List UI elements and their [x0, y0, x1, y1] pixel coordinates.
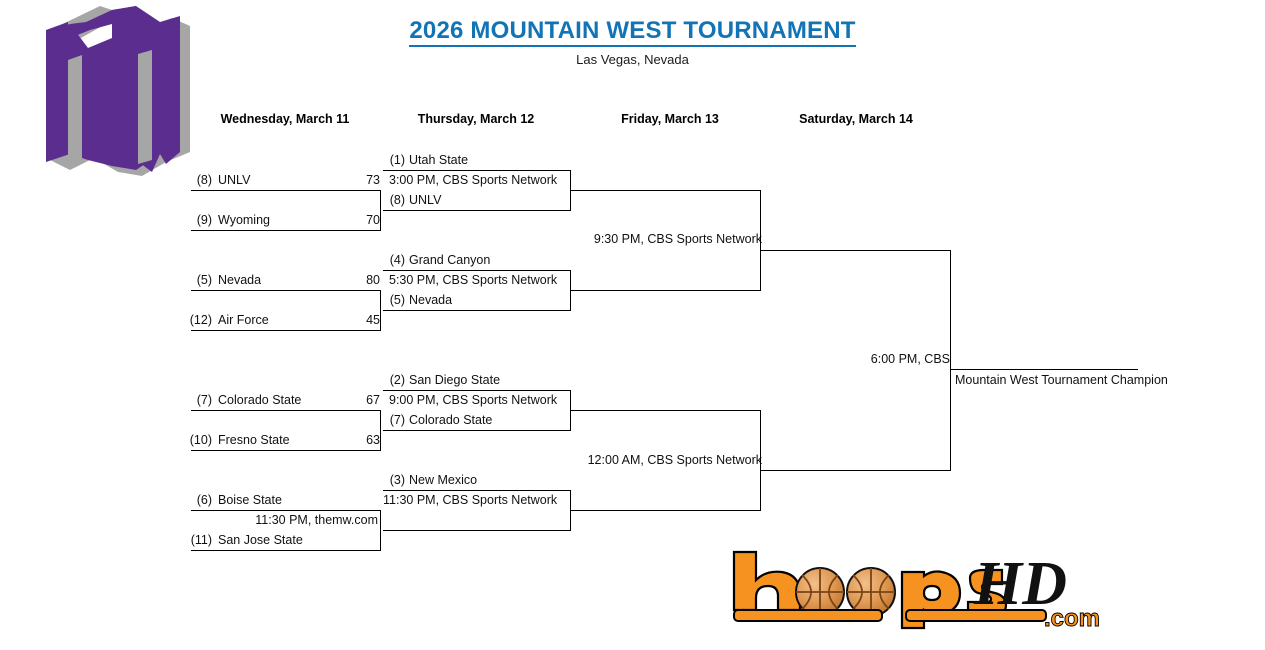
- r1-g4-time: 11:30 PM, themw.com: [180, 513, 378, 527]
- r1-g3-top-team: Colorado State: [218, 393, 301, 407]
- r1-g3-bot-score: 63: [330, 433, 380, 447]
- qf2-time: 5:30 PM, CBS Sports Network: [389, 273, 557, 287]
- basketball-icon-1: [796, 568, 844, 616]
- sf1-bot-line: [570, 290, 760, 291]
- qf2-top-seed: (4): [383, 253, 405, 267]
- final-time: 6:00 PM, CBS: [760, 352, 950, 366]
- round-header-wednesday: Wednesday, March 11: [180, 112, 390, 126]
- sf2-connector: [760, 410, 761, 511]
- r1-g4-bot-seed: (11): [186, 533, 212, 547]
- qf3-top-seed: (2): [383, 373, 405, 387]
- r1-g4-top-line: [191, 510, 381, 511]
- hoops-h-letter: [734, 552, 800, 610]
- qf1-top-seed: (1): [383, 153, 405, 167]
- r1-g1-top-line: [191, 190, 381, 191]
- r1-g4-top-seed: (6): [186, 493, 212, 507]
- final-bot-line: [760, 470, 950, 471]
- qf4-time: 11:30 PM, CBS Sports Network: [383, 493, 557, 507]
- qf3-top-team: San Diego State: [409, 373, 500, 387]
- sf2-time: 12:00 AM, CBS Sports Network: [566, 453, 762, 467]
- sf1-time: 9:30 PM, CBS Sports Network: [570, 232, 762, 246]
- round-header-friday: Friday, March 13: [570, 112, 770, 126]
- sf1-top-line: [570, 190, 760, 191]
- qf4-top-line: [383, 490, 570, 491]
- r1-g2-top-team: Nevada: [218, 273, 261, 287]
- qf4-top-team: New Mexico: [409, 473, 477, 487]
- r1-g1-connector: [380, 190, 381, 231]
- qf1-bot-team: UNLV: [409, 193, 441, 207]
- qf3-top-line: [383, 390, 570, 391]
- r1-g2-bot-seed: (12): [186, 313, 212, 327]
- r1-g2-top-score: 80: [330, 273, 380, 287]
- r1-g1-bot-score: 70: [330, 213, 380, 227]
- final-connector: [950, 250, 951, 471]
- r1-g2-top-seed: (5): [186, 273, 212, 287]
- sf2-top-line: [570, 410, 760, 411]
- r1-g1-bot-team: Wyoming: [218, 213, 270, 227]
- qf4-bot-line: [383, 530, 570, 531]
- r1-g4-bot-line: [191, 550, 381, 551]
- sf1-connector: [760, 190, 761, 291]
- qf3-time: 9:00 PM, CBS Sports Network: [389, 393, 557, 407]
- r1-g2-bot-team: Air Force: [218, 313, 269, 327]
- final-top-line: [760, 250, 950, 251]
- dotcom-wordmark: .com: [1044, 605, 1100, 632]
- qf3-bot-seed: (7): [383, 413, 405, 427]
- page-subtitle: Las Vegas, Nevada: [0, 52, 1265, 67]
- bracket-page: 2026 MOUNTAIN WEST TOURNAMENT Las Vegas,…: [0, 0, 1265, 650]
- round-header-saturday: Saturday, March 14: [760, 112, 952, 126]
- qf4-top-seed: (3): [383, 473, 405, 487]
- r1-g3-top-score: 67: [330, 393, 380, 407]
- r1-g4-top-team: Boise State: [218, 493, 282, 507]
- page-title: 2026 MOUNTAIN WEST TOURNAMENT: [0, 17, 1265, 45]
- qf1-bot-line: [383, 210, 570, 211]
- qf1-top-line: [383, 170, 570, 171]
- qf1-time: 3:00 PM, CBS Sports Network: [389, 173, 557, 187]
- r1-g2-connector: [380, 290, 381, 331]
- r1-g3-bot-team: Fresno State: [218, 433, 290, 447]
- page-title-text: 2026 MOUNTAIN WEST TOURNAMENT: [409, 17, 855, 47]
- r1-g2-top-line: [191, 290, 381, 291]
- champion-line: [950, 369, 1138, 370]
- r1-g2-bot-line: [191, 330, 381, 331]
- round-header-thursday: Thursday, March 12: [372, 112, 580, 126]
- champion-label: Mountain West Tournament Champion: [955, 373, 1168, 387]
- sf2-bot-line: [570, 510, 760, 511]
- r1-g1-top-team: UNLV: [218, 173, 250, 187]
- r1-g3-top-seed: (7): [186, 393, 212, 407]
- qf2-bot-team: Nevada: [409, 293, 452, 307]
- qf1-top-team: Utah State: [409, 153, 468, 167]
- qf1-bot-seed: (8): [383, 193, 405, 207]
- r1-g1-top-seed: (8): [186, 173, 212, 187]
- r1-g3-top-line: [191, 410, 381, 411]
- qf2-bot-line: [383, 310, 570, 311]
- qf2-top-team: Grand Canyon: [409, 253, 490, 267]
- r1-g3-bot-line: [191, 450, 381, 451]
- r1-g1-top-score: 73: [330, 173, 380, 187]
- qf2-top-line: [383, 270, 570, 271]
- r1-g4-bot-team: San Jose State: [218, 533, 303, 547]
- r1-g4-connector: [380, 510, 381, 551]
- qf3-bot-line: [383, 430, 570, 431]
- r1-g3-bot-seed: (10): [186, 433, 212, 447]
- r1-g1-bot-line: [191, 230, 381, 231]
- qf2-bot-seed: (5): [383, 293, 405, 307]
- hoopshd-logo[interactable]: HD .com: [726, 546, 1131, 636]
- basketball-icon-2: [847, 568, 895, 616]
- r1-g3-connector: [380, 410, 381, 451]
- hoops-underline-left: [734, 610, 882, 621]
- r1-g1-bot-seed: (9): [186, 213, 212, 227]
- qf3-bot-team: Colorado State: [409, 413, 492, 427]
- r1-g2-bot-score: 45: [330, 313, 380, 327]
